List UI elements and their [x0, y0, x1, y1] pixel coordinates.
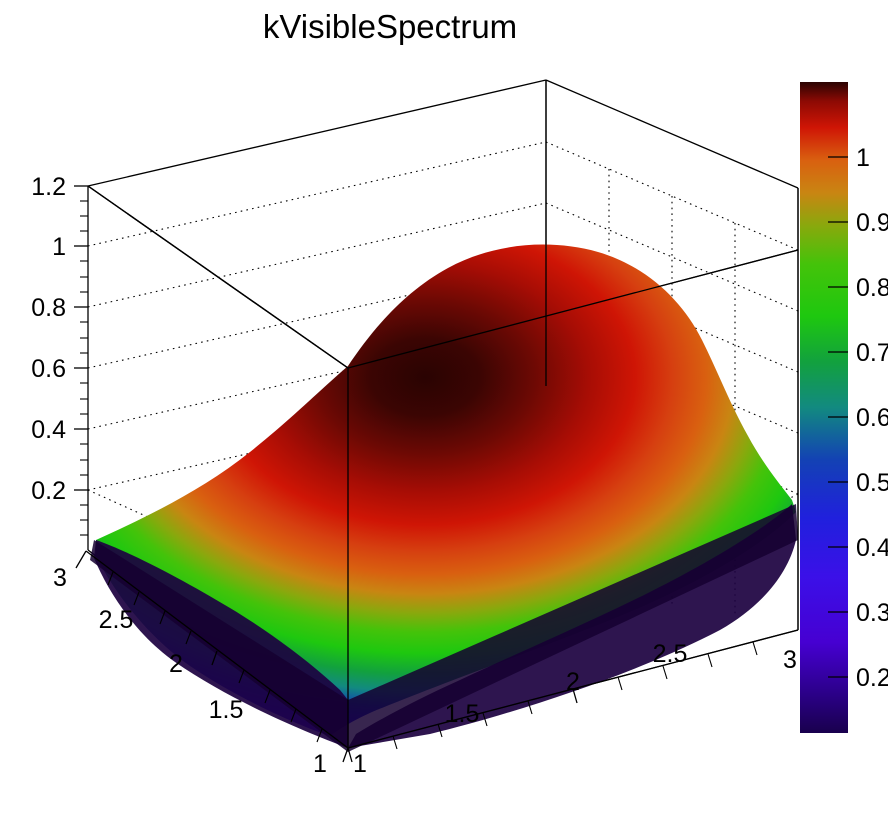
surface-plot [90, 245, 798, 752]
palette-tick-label: 0.3 [856, 599, 888, 627]
z-axis: 1.2 1 0.8 0.6 0.4 0.2 [31, 173, 88, 535]
plot-svg: 1.2 1 0.8 0.6 0.4 0.2 [0, 0, 888, 816]
x-tick-label: 1 [353, 750, 367, 778]
palette-tick-label: 1 [856, 144, 870, 172]
y-tick-label: 3 [53, 564, 67, 592]
z-tick-label: 0.4 [31, 416, 66, 444]
y-tick-label: 2 [169, 650, 183, 678]
palette-gradient [800, 82, 848, 733]
x-tick-label: 2 [566, 668, 580, 696]
z-tick-label: 0.6 [31, 355, 66, 383]
x-tick-label: 2.5 [653, 640, 688, 668]
palette-tick-label: 0.6 [856, 404, 888, 432]
y-tick-label: 2.5 [99, 606, 134, 634]
root-canvas: kVisibleSpectrum [0, 0, 888, 816]
y-tick-label: 1.5 [209, 696, 244, 724]
z-tick-label: 0.8 [31, 294, 66, 322]
z-tick-label: 1.2 [31, 173, 66, 201]
palette-tick-label: 0.2 [856, 664, 888, 692]
z-tick-label: 0.2 [31, 477, 66, 505]
y-tick-label: 1 [313, 750, 327, 778]
palette-tick-label: 0.7 [856, 339, 888, 367]
x-tick-label: 3 [783, 646, 797, 674]
palette-tick-label: 0.9 [856, 209, 888, 237]
palette-tick-label: 0.8 [856, 274, 888, 302]
palette-tick-label: 0.5 [856, 469, 888, 497]
x-tick-label: 1.5 [445, 700, 480, 728]
palette-tick-label: 0.4 [856, 534, 888, 562]
color-palette[interactable]: 1 0.9 0.8 0.7 0.6 0.5 0.4 0.3 0.2 [800, 82, 888, 733]
z-tick-label: 1 [52, 233, 66, 261]
